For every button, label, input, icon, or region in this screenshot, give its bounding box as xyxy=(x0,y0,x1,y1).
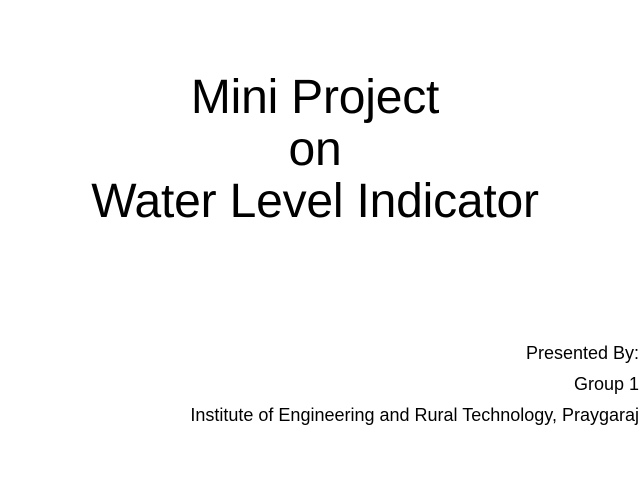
presented-by-label: Presented By: xyxy=(19,338,639,369)
slide-title: Mini Project on Water Level Indicator xyxy=(0,72,630,228)
title-line-1: Mini Project xyxy=(0,72,630,124)
title-line-2: on xyxy=(0,124,630,176)
slide-credits: Presented By: Group 1 Institute of Engin… xyxy=(19,338,639,431)
presentation-slide: Mini Project on Water Level Indicator Pr… xyxy=(0,0,640,480)
institute-name: Institute of Engineering and Rural Techn… xyxy=(19,400,639,431)
title-line-3: Water Level Indicator xyxy=(0,176,630,228)
group-name: Group 1 xyxy=(19,369,639,400)
